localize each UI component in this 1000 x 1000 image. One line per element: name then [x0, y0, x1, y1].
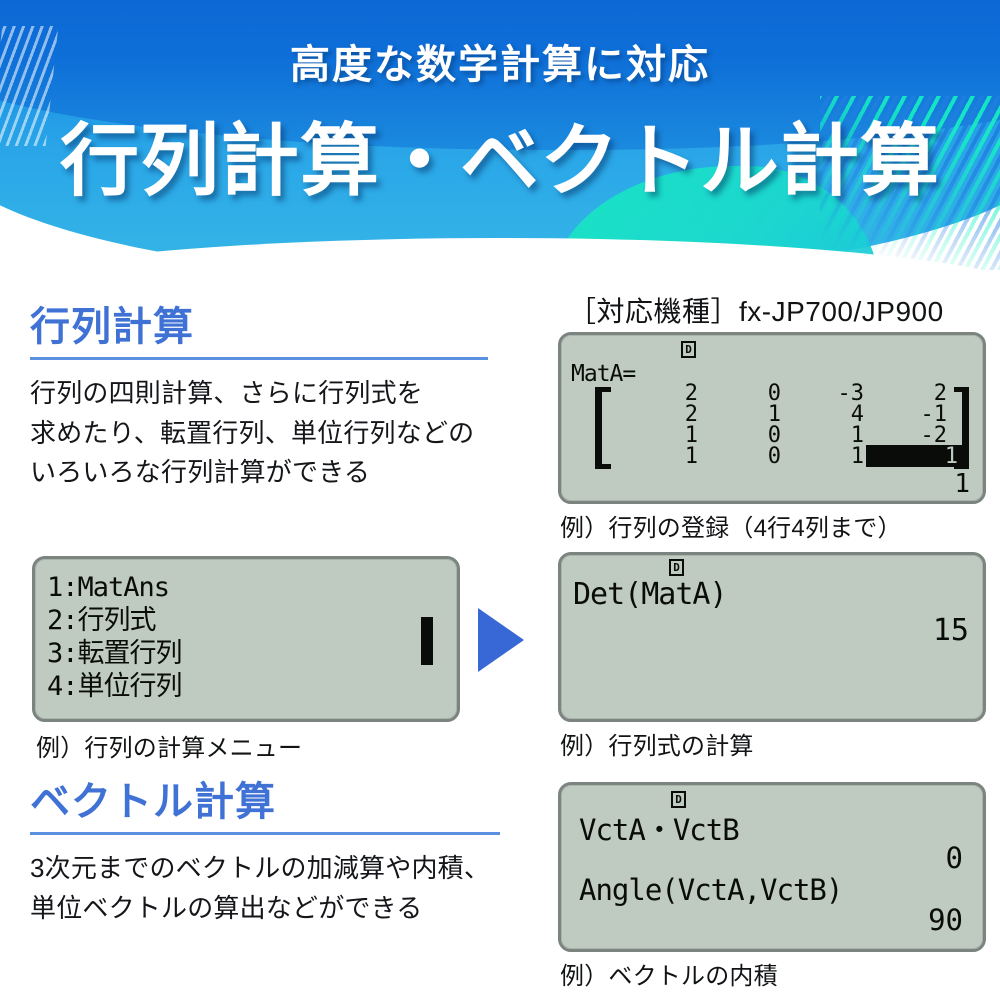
vector-section-body: 3次元までのベクトルの加減算や内積、 単位ベクトルの算出などができる: [30, 849, 530, 928]
lcd-vector: D VctA・VctB 0 Angle(VctA,VctB) 90: [558, 782, 986, 952]
matrix-section-heading: 行列計算: [30, 305, 500, 349]
lcd-determinant: D Det(MatA) 15: [558, 552, 986, 722]
lcd-matrix-menu: 1:MatAns 2:行列式 3:転置行列 4:単位行列: [32, 556, 460, 722]
supported-models-label: ［対応機種］fx-JP700/JP900: [568, 290, 944, 330]
matrix-cell: 2: [866, 383, 949, 404]
matrix-cell: 4: [783, 404, 866, 425]
matrix-cell: 1: [617, 425, 700, 446]
caption-matrix-menu: 例）行列の計算メニュー: [36, 728, 302, 763]
vector-dot-product-expression: VctA・VctB: [579, 807, 739, 849]
matrix-cell: 1: [783, 425, 866, 446]
matrix-cell: 1: [783, 446, 866, 467]
menu-item-determinant[interactable]: 2:行列式: [47, 604, 182, 637]
determinant-expression: Det(MatA): [573, 577, 727, 612]
math-mode-icon: D: [669, 559, 684, 576]
lcd-matrix-entry: D MatA= 2 0 -3 2 2 1 4 -1 1 0 1 -2 1 0 1…: [558, 332, 986, 504]
banner-title: 行列計算・ベクトル計算: [0, 96, 1000, 211]
banner-text-group: 高度な数学計算に対応 行列計算・ベクトル計算: [0, 0, 1000, 211]
matrix-cursor-value: 1: [945, 444, 958, 469]
menu-scrollbar[interactable]: [421, 617, 433, 665]
caption-matrix-entry: 例）行列の登録（4行4列まで）: [560, 508, 902, 543]
matrix-cell: 0: [700, 425, 783, 446]
matrix-bracket-left-icon: [595, 387, 611, 469]
matrix-entry-result: 1: [954, 471, 970, 497]
matrix-cell: -3: [783, 383, 866, 404]
matrix-cell: 0: [700, 446, 783, 467]
matrix-section: 行列計算 行列の四則計算、さらに行列式を 求めたり、転置行列、単位行列などの い…: [30, 305, 500, 493]
determinant-answer: 15: [933, 613, 969, 648]
vector-angle-answer: 90: [928, 903, 963, 937]
matrix-cell: 2: [617, 383, 700, 404]
matrix-cell: 0: [700, 383, 783, 404]
matrix-cell: 1: [700, 404, 783, 425]
vector-section: ベクトル計算 3次元までのベクトルの加減算や内積、 単位ベクトルの算出などができ…: [30, 780, 530, 928]
menu-item-transpose[interactable]: 3:転置行列: [47, 637, 182, 670]
header-banner: 高度な数学計算に対応 行列計算・ベクトル計算: [0, 0, 1000, 270]
matrix-body-line-1: 行列の四則計算、さらに行列式を: [30, 374, 500, 414]
matrix-cursor-highlight: 1: [866, 445, 962, 467]
matrix-body-line-3: いろいろな行列計算ができる: [30, 453, 500, 493]
menu-item-matans[interactable]: 1:MatAns: [47, 571, 182, 604]
banner-subtitle: 高度な数学計算に対応: [0, 32, 1000, 90]
caption-vector: 例）ベクトルの内積: [560, 956, 778, 991]
matrix-section-rule: [30, 357, 488, 360]
matrix-cell: 1: [617, 446, 700, 467]
matrix-section-body: 行列の四則計算、さらに行列式を 求めたり、転置行列、単位行列などの いろいろな行…: [30, 374, 500, 493]
matrix-body-line-2: 求めたり、転置行列、単位行列などの: [30, 414, 500, 454]
vector-body-line-1: 3次元までのベクトルの加減算や内積、: [30, 849, 530, 889]
vector-body-line-2: 単位ベクトルの算出などができる: [30, 889, 530, 929]
caption-determinant: 例）行列式の計算: [560, 726, 754, 761]
math-mode-icon: D: [671, 791, 686, 808]
matrix-cell: -1: [866, 404, 949, 425]
flow-arrow-right-icon: [478, 608, 524, 672]
matrix-cell: -2: [866, 425, 949, 446]
matrix-menu-list: 1:MatAns 2:行列式 3:転置行列 4:単位行列: [47, 571, 182, 703]
menu-item-identity[interactable]: 4:単位行列: [47, 670, 182, 703]
vector-section-rule: [30, 832, 500, 835]
math-mode-icon: D: [681, 341, 696, 358]
matrix-cell: 2: [617, 404, 700, 425]
vector-angle-expression: Angle(VctA,VctB): [579, 873, 842, 907]
vector-dot-product-answer: 0: [946, 841, 963, 875]
vector-section-heading: ベクトル計算: [30, 780, 530, 824]
